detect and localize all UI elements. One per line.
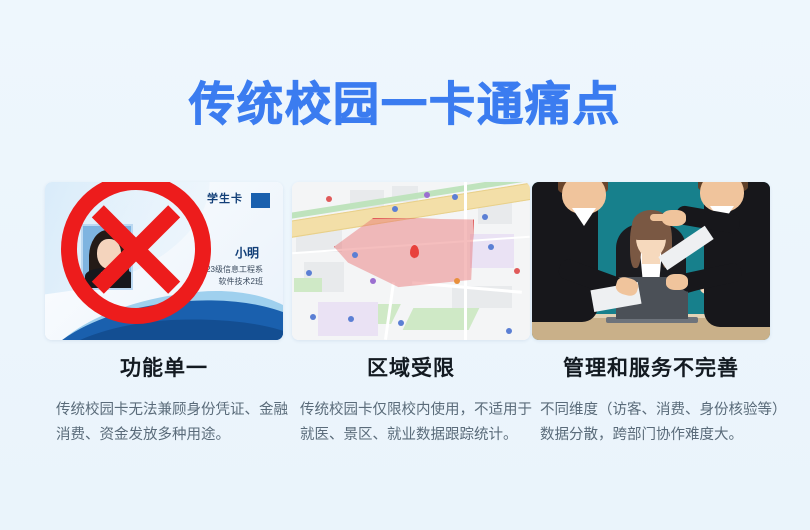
map-green-area — [294, 278, 322, 292]
map-poi-marker[interactable] — [506, 328, 512, 334]
card-body-management: 不同维度（访客、消费、身份核验等）数据分散，跨部门协作难度大。 — [540, 398, 784, 448]
cards-row: 学生卡 小明 23级信息工程系 软件技术2班 — [0, 182, 810, 347]
map-poi-marker[interactable] — [514, 268, 520, 274]
map-poi-marker[interactable] — [326, 196, 332, 202]
map-poi-marker[interactable] — [352, 252, 358, 258]
card-body-area-limited: 传统校园卡仅限校内使用，不适用于就医、景区、就业数据跟踪统计。 — [300, 398, 536, 448]
student-department: 23级信息工程系 — [206, 264, 263, 275]
map-poi-marker[interactable] — [306, 270, 312, 276]
student-class: 软件技术2班 — [219, 276, 263, 287]
slide-root: 传统校园一卡通痛点 学生卡 小明 23级信息工程系 软件技术2班 — [0, 0, 810, 530]
map-poi-marker[interactable] — [452, 194, 458, 200]
card-management-image[interactable] — [532, 182, 770, 340]
map-poi-marker[interactable] — [392, 206, 398, 212]
card-logo-square — [251, 193, 270, 208]
red-cross-icon — [61, 182, 211, 324]
card-functionality-image[interactable]: 学生卡 小明 23级信息工程系 软件技术2班 — [45, 182, 283, 340]
page-title: 传统校园一卡通痛点 — [0, 77, 810, 131]
student-card-label: 学生卡 — [207, 190, 243, 206]
map-poi-marker[interactable] — [310, 314, 316, 320]
right-person-finger — [650, 214, 666, 221]
map-poi-marker[interactable] — [424, 192, 430, 198]
map-poi-marker[interactable] — [482, 214, 488, 220]
card-heading-management: 管理和服务不完善 — [532, 352, 770, 382]
map-location-pin-icon — [410, 245, 419, 258]
card-heading-functionality: 功能单一 — [45, 352, 283, 382]
map-poi-marker[interactable] — [370, 278, 376, 284]
student-name: 小明 — [235, 244, 259, 261]
map-poi-marker[interactable] — [488, 244, 494, 250]
map-green-area — [403, 308, 480, 330]
card-heading-area-limited: 区域受限 — [292, 352, 530, 382]
map-poi-marker[interactable] — [398, 320, 404, 326]
card-headings-row: 功能单一 区域受限 管理和服务不完善 — [0, 352, 810, 382]
map-poi-marker[interactable] — [454, 278, 460, 284]
map-poi-marker[interactable] — [348, 316, 354, 322]
office-illustration — [532, 182, 770, 340]
map-graphic — [292, 182, 530, 340]
card-area-limited-image[interactable] — [292, 182, 530, 340]
card-body-functionality: 传统校园卡无法兼顾身份凭证、金融消费、资金发放多种用途。 — [56, 398, 288, 448]
right-person-hand-lower — [666, 274, 688, 290]
